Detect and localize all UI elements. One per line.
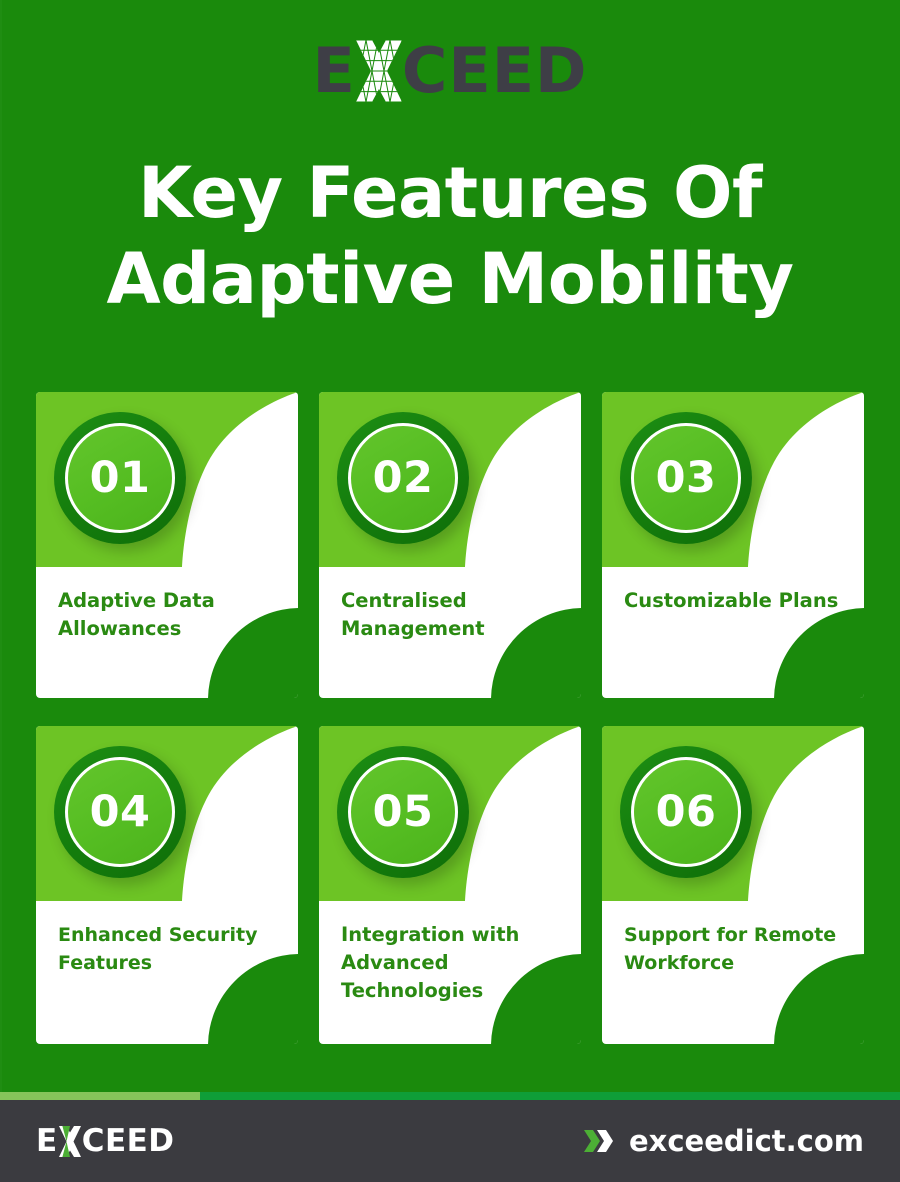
card-number: 04 <box>90 791 151 834</box>
card-number-badge: 04 <box>54 746 186 878</box>
footer-brand-logo[interactable]: E CEED <box>36 1126 175 1157</box>
brand-name-part2: CEED <box>402 40 588 102</box>
page-title-line-1: Key Features Of <box>0 150 900 236</box>
accent-bar-right-segment <box>200 1092 900 1100</box>
card-label: Enhanced Security Features <box>58 921 278 977</box>
feature-card-03[interactable]: 03 Customizable Plans <box>602 392 864 698</box>
card-number-badge: 03 <box>620 412 752 544</box>
footer-website[interactable]: exceedict.com <box>582 1127 864 1156</box>
feature-card-05[interactable]: 05 Integration with Advanced Technologie… <box>319 726 581 1044</box>
exceed-x-logo-icon <box>354 40 404 102</box>
card-label: Integration with Advanced Technologies <box>341 921 561 1005</box>
exceed-x-logo-icon <box>59 1126 81 1157</box>
card-number-badge: 01 <box>54 412 186 544</box>
card-number: 01 <box>90 457 151 500</box>
feature-card-04[interactable]: 04 Enhanced Security Features <box>36 726 298 1044</box>
double-chevron-right-icon <box>582 1128 616 1154</box>
card-number-badge: 05 <box>337 746 469 878</box>
accent-bar-left-segment <box>0 1092 200 1100</box>
card-label: Centralised Management <box>341 587 561 643</box>
feature-card-01[interactable]: 01 Adaptive Data Allowances <box>36 392 298 698</box>
feature-card-02[interactable]: 02 Centralised Management <box>319 392 581 698</box>
footer-url-text: exceedict.com <box>629 1127 864 1156</box>
card-number: 05 <box>373 791 434 834</box>
badge-inner-circle: 06 <box>631 757 741 867</box>
badge-inner-circle: 04 <box>65 757 175 867</box>
feature-card-06[interactable]: 06 Support for Remote Workforce <box>602 726 864 1044</box>
page-title-line-2: Adaptive Mobility <box>0 236 900 322</box>
badge-inner-circle: 05 <box>348 757 458 867</box>
header-brand-logo: E CEED <box>0 36 900 106</box>
card-number: 06 <box>656 791 717 834</box>
badge-inner-circle: 02 <box>348 423 458 533</box>
footer-logo-part1: E <box>36 1126 58 1157</box>
badge-inner-circle: 03 <box>631 423 741 533</box>
brand-name-part1: E <box>312 40 355 102</box>
footer-accent-bar <box>0 1092 900 1100</box>
card-number-badge: 06 <box>620 746 752 878</box>
infographic-poster: E CEED Key Features Of Adaptive Mobility <box>0 0 900 1182</box>
card-label: Adaptive Data Allowances <box>58 587 278 643</box>
badge-inner-circle: 01 <box>65 423 175 533</box>
footer: E CEED exceedict.com <box>0 1100 900 1182</box>
card-number: 03 <box>656 457 717 500</box>
card-number: 02 <box>373 457 434 500</box>
page-title: Key Features Of Adaptive Mobility <box>0 150 900 322</box>
footer-logo-part2: CEED <box>82 1126 175 1157</box>
card-number-badge: 02 <box>337 412 469 544</box>
card-label: Customizable Plans <box>624 587 844 615</box>
features-grid: 01 Adaptive Data Allowances 02 Centralis… <box>36 392 864 1044</box>
card-label: Support for Remote Workforce <box>624 921 844 977</box>
